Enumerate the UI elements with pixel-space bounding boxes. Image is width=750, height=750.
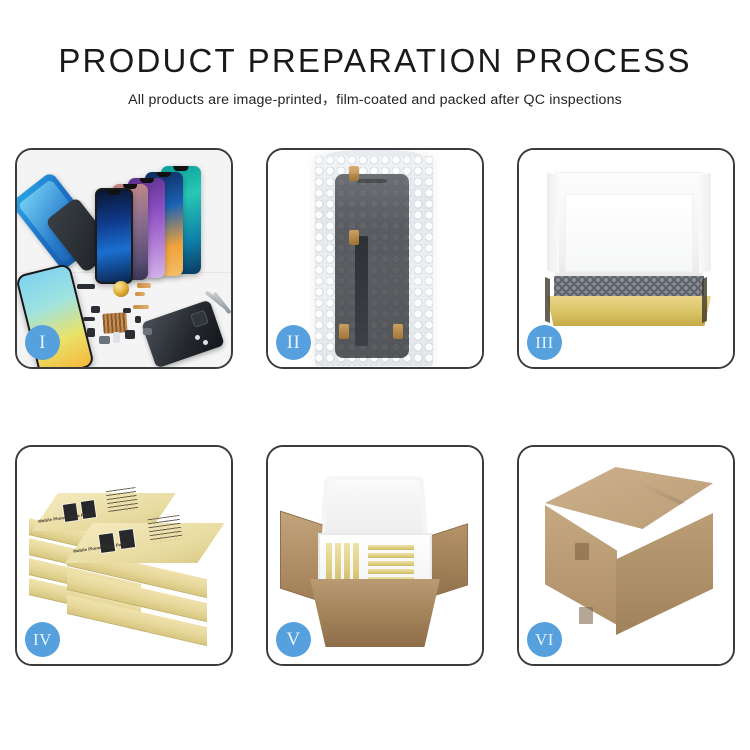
phone-fan-group	[95, 164, 225, 282]
step-5-illustration: V	[268, 447, 482, 664]
step-1-illustration: I	[17, 150, 231, 367]
step-6-illustration: VI	[519, 447, 733, 664]
step-2-illustration: II	[268, 150, 482, 367]
step-badge-5: V	[276, 622, 311, 657]
foam-lid-icon	[322, 477, 427, 538]
foam-sheet-icon	[565, 194, 693, 272]
step-badge-4: IV	[25, 622, 60, 657]
packed-contents-icon	[554, 276, 704, 298]
step-card-5[interactable]: V	[266, 445, 484, 666]
page-subtitle: All products are image-printed，film-coat…	[0, 80, 750, 109]
step-card-6[interactable]: VI	[517, 445, 735, 666]
step-4-illustration: Mobile Phone Spare Parts Mobile Phone Sp…	[17, 447, 231, 664]
step-badge-2: II	[276, 325, 311, 360]
yellow-box-front	[547, 296, 711, 326]
carton-body-icon	[310, 579, 440, 647]
step-3-illustration: III	[519, 150, 733, 367]
process-step-grid: I II III	[15, 148, 735, 666]
gold-component-icon	[113, 281, 129, 297]
page-title: PRODUCT PREPARATION PROCESS	[0, 0, 750, 80]
step-card-2[interactable]: II	[266, 148, 484, 369]
page-header: PRODUCT PREPARATION PROCESS All products…	[0, 0, 750, 109]
step-card-4[interactable]: Mobile Phone Spare Parts Mobile Phone Sp…	[15, 445, 233, 666]
box-stack-icon: Mobile Phone Spare Parts Mobile Phone Sp…	[25, 467, 225, 647]
step-badge-3: III	[527, 325, 562, 360]
bubble-wrap-bag-icon	[315, 156, 433, 366]
step-card-1[interactable]: I	[15, 148, 233, 369]
chip-grid-icon	[102, 312, 127, 334]
step-badge-1: I	[25, 325, 60, 360]
step-card-3[interactable]: III	[517, 148, 735, 369]
step-badge-6: VI	[527, 622, 562, 657]
